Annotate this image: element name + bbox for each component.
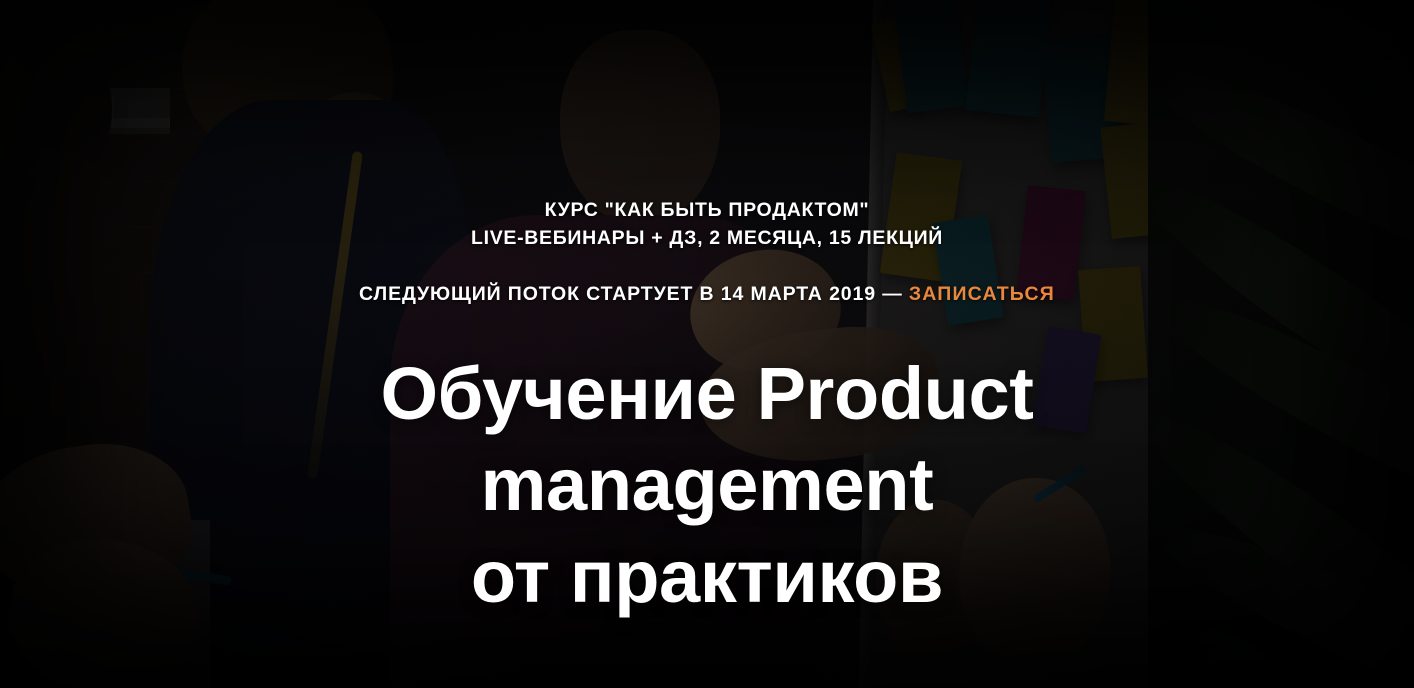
hero-section: КУРС "КАК БЫТЬ ПРОДАКТОМ" LIVE-ВЕБИНАРЫ …	[0, 0, 1414, 688]
page-title-line-1: Обучение Product management	[380, 352, 1033, 527]
kicker-line-course-title: КУРС "КАК БЫТЬ ПРОДАКТОМ"	[471, 196, 943, 224]
page-title: Обучение Product management от практиков	[147, 348, 1267, 623]
page-title-line-2: от практиков	[471, 535, 943, 618]
signup-link[interactable]: ЗАПИСАТЬСЯ	[909, 283, 1055, 305]
next-cohort-text: СЛЕДУЮЩИЙ ПОТОК СТАРТУЕТ В 14 МАРТА 2019…	[359, 283, 909, 305]
hero-kicker: КУРС "КАК БЫТЬ ПРОДАКТОМ" LIVE-ВЕБИНАРЫ …	[471, 196, 943, 253]
kicker-line-format: LIVE-ВЕБИНАРЫ + ДЗ, 2 МЕСЯЦА, 15 ЛЕКЦИЙ	[471, 224, 943, 252]
hero-content: КУРС "КАК БЫТЬ ПРОДАКТОМ" LIVE-ВЕБИНАРЫ …	[0, 0, 1414, 688]
next-cohort-line: СЛЕДУЮЩИЙ ПОТОК СТАРТУЕТ В 14 МАРТА 2019…	[359, 283, 1055, 306]
